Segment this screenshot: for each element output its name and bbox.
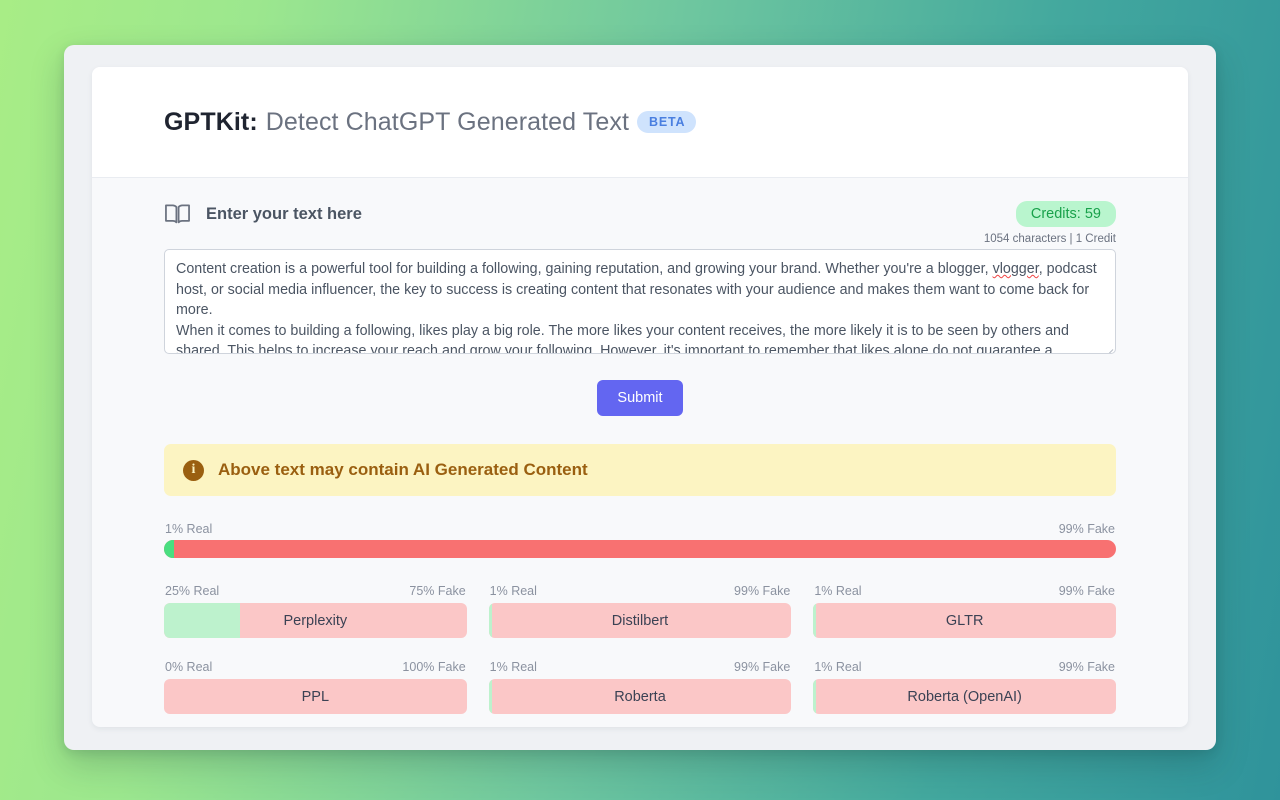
info-icon: i — [183, 460, 204, 481]
model-name: Roberta (OpenAI) — [813, 689, 1116, 705]
model-fake-label: 75% Fake — [409, 584, 465, 598]
textarea-line-1a: Content creation is a powerful tool for … — [176, 261, 993, 277]
app-body: Enter your text here Credits: 59 1054 ch… — [92, 178, 1188, 714]
model-real-label: 25% Real — [165, 584, 219, 598]
overall-meter: 1% Real 99% Fake — [164, 522, 1116, 558]
model-real-label: 1% Real — [814, 584, 861, 598]
model-caption: 25% Real75% Fake — [164, 584, 467, 603]
model-bar: PPL — [164, 679, 467, 714]
model-real-label: 1% Real — [814, 660, 861, 674]
model-fake-label: 99% Fake — [1059, 660, 1115, 674]
page-title-text: Detect ChatGPT Generated Text — [266, 108, 629, 137]
model-result: 1% Real99% FakeRoberta (OpenAI) — [813, 660, 1116, 714]
model-result: 25% Real75% FakePerplexity — [164, 584, 467, 638]
model-fake-label: 99% Fake — [734, 660, 790, 674]
model-result: 1% Real99% FakeRoberta — [489, 660, 792, 714]
beta-badge: BETA — [637, 111, 696, 133]
browser-window: GPTKit: Detect ChatGPT Generated Text BE… — [64, 45, 1216, 750]
textarea-paragraph-2: When it comes to building a following, l… — [176, 321, 1103, 355]
character-count: 1054 characters | 1 Credit — [164, 233, 1116, 245]
model-fake-label: 99% Fake — [1059, 584, 1115, 598]
model-caption: 1% Real99% Fake — [489, 584, 792, 603]
alert-message: Above text may contain AI Generated Cont… — [218, 460, 588, 480]
model-results-grid: 25% Real75% FakePerplexity1% Real99% Fak… — [164, 584, 1116, 714]
model-name: PPL — [164, 689, 467, 705]
overall-fake-label: 99% Fake — [1059, 522, 1115, 536]
submit-button[interactable]: Submit — [597, 380, 682, 416]
model-caption: 1% Real99% Fake — [813, 660, 1116, 679]
model-bar: Roberta (OpenAI) — [813, 679, 1116, 714]
model-fake-label: 100% Fake — [402, 660, 465, 674]
model-caption: 0% Real100% Fake — [164, 660, 467, 679]
textarea-paragraph-1: Content creation is a powerful tool for … — [176, 259, 1103, 321]
overall-real-label: 1% Real — [165, 522, 212, 536]
model-real-label: 1% Real — [490, 584, 537, 598]
overall-meter-track — [164, 540, 1116, 558]
model-name: GLTR — [813, 613, 1116, 629]
credits-badge: Credits: 59 — [1016, 201, 1116, 227]
model-real-label: 1% Real — [490, 660, 537, 674]
misspelled-word: vlogger — [993, 261, 1039, 277]
app-header: GPTKit: Detect ChatGPT Generated Text BE… — [92, 67, 1188, 178]
overall-meter-caption: 1% Real 99% Fake — [164, 522, 1116, 540]
overall-meter-real-fill — [164, 540, 174, 558]
input-label-row: Enter your text here Credits: 59 — [164, 178, 1116, 227]
model-real-label: 0% Real — [165, 660, 212, 674]
page-title: GPTKit: Detect ChatGPT Generated Text BE… — [164, 108, 696, 137]
text-input[interactable]: Content creation is a powerful tool for … — [164, 249, 1116, 354]
brand-name: GPTKit: — [164, 108, 258, 137]
model-caption: 1% Real99% Fake — [813, 584, 1116, 603]
model-fake-label: 99% Fake — [734, 584, 790, 598]
model-bar: Distilbert — [489, 603, 792, 638]
model-bar: Roberta — [489, 679, 792, 714]
model-name: Roberta — [489, 689, 792, 705]
textarea-line-1c: , — [1039, 261, 1043, 277]
model-bar: Perplexity — [164, 603, 467, 638]
model-bar: GLTR — [813, 603, 1116, 638]
model-name: Distilbert — [489, 613, 792, 629]
model-caption: 1% Real99% Fake — [489, 660, 792, 679]
model-result: 0% Real100% FakePPL — [164, 660, 467, 714]
input-label: Enter your text here — [206, 205, 362, 224]
resize-handle[interactable] — [1102, 341, 1113, 352]
submit-row: Submit — [164, 380, 1116, 416]
app-card: GPTKit: Detect ChatGPT Generated Text BE… — [92, 67, 1188, 727]
book-icon — [164, 203, 191, 225]
ai-content-alert: i Above text may contain AI Generated Co… — [164, 444, 1116, 496]
model-result: 1% Real99% FakeGLTR — [813, 584, 1116, 638]
model-result: 1% Real99% FakeDistilbert — [489, 584, 792, 638]
model-name: Perplexity — [164, 613, 467, 629]
input-label-group: Enter your text here — [164, 203, 362, 225]
